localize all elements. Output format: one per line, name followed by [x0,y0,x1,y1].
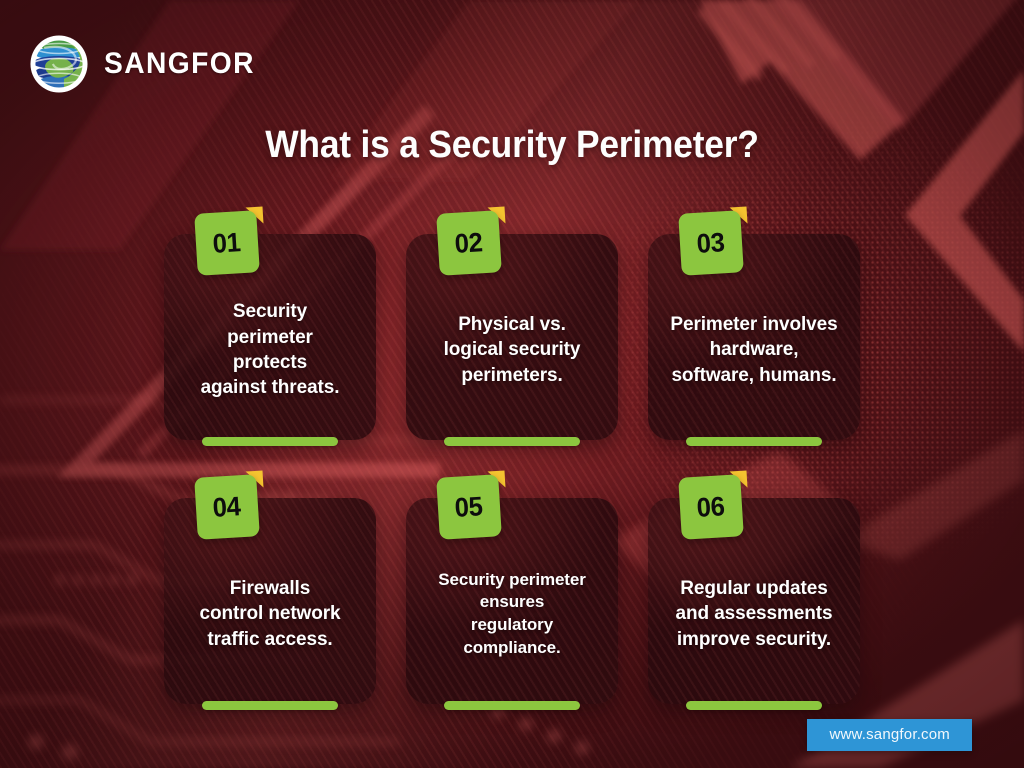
point-card[interactable]: 03 Perimeter involves hardware, software… [648,234,860,440]
badge-tile: 05 [436,474,502,540]
card-accent-bar [202,701,338,710]
badge-tile: 01 [194,210,260,276]
badge-tile: 03 [678,210,744,276]
card-text: Perimeter involves hardware, software, h… [656,290,852,410]
card-number-badge: 04 [196,476,258,538]
badge-tile: 02 [436,210,502,276]
badge-tile: 04 [194,474,260,540]
card-number-badge: 05 [438,476,500,538]
card-text: Firewalls control network traffic access… [172,554,368,674]
point-card[interactable]: 04 Firewalls control network traffic acc… [164,498,376,704]
card-accent-bar [444,701,580,710]
card-accent-bar [686,437,822,446]
brand-name: SANGFOR [104,49,255,79]
point-card[interactable]: 06 Regular updates and assessments impro… [648,498,860,704]
sangfor-globe-logo-icon [28,33,90,95]
brand-lockup: SANGFOR [28,33,265,95]
website-url-badge[interactable]: www.sangfor.com [807,719,972,751]
point-card[interactable]: 05 Security perimeter ensures regulatory… [406,498,618,704]
infographic-slide: SANGFOR What is a Security Perimeter? 01… [0,0,1024,768]
badge-tile: 06 [678,474,744,540]
points-grid: 01 Security perimeter protects against t… [164,234,860,704]
card-number: 04 [212,493,241,522]
card-accent-bar [202,437,338,446]
card-number: 01 [212,229,241,258]
card-text: Security perimeter ensures regulatory co… [414,554,610,674]
card-number: 06 [696,493,725,522]
point-card[interactable]: 02 Physical vs. logical security perimet… [406,234,618,440]
point-card[interactable]: 01 Security perimeter protects against t… [164,234,376,440]
card-text: Security perimeter protects against thre… [172,290,368,410]
card-text: Regular updates and assessments improve … [656,554,852,674]
card-number-badge: 06 [680,476,742,538]
page-title: What is a Security Perimeter? [36,124,988,167]
card-number: 05 [454,493,483,522]
card-number-badge: 03 [680,212,742,274]
card-number: 03 [696,229,725,258]
card-accent-bar [686,701,822,710]
card-number: 02 [454,229,483,258]
card-number-badge: 02 [438,212,500,274]
card-number-badge: 01 [196,212,258,274]
card-accent-bar [444,437,580,446]
card-text: Physical vs. logical security perimeters… [414,290,610,410]
